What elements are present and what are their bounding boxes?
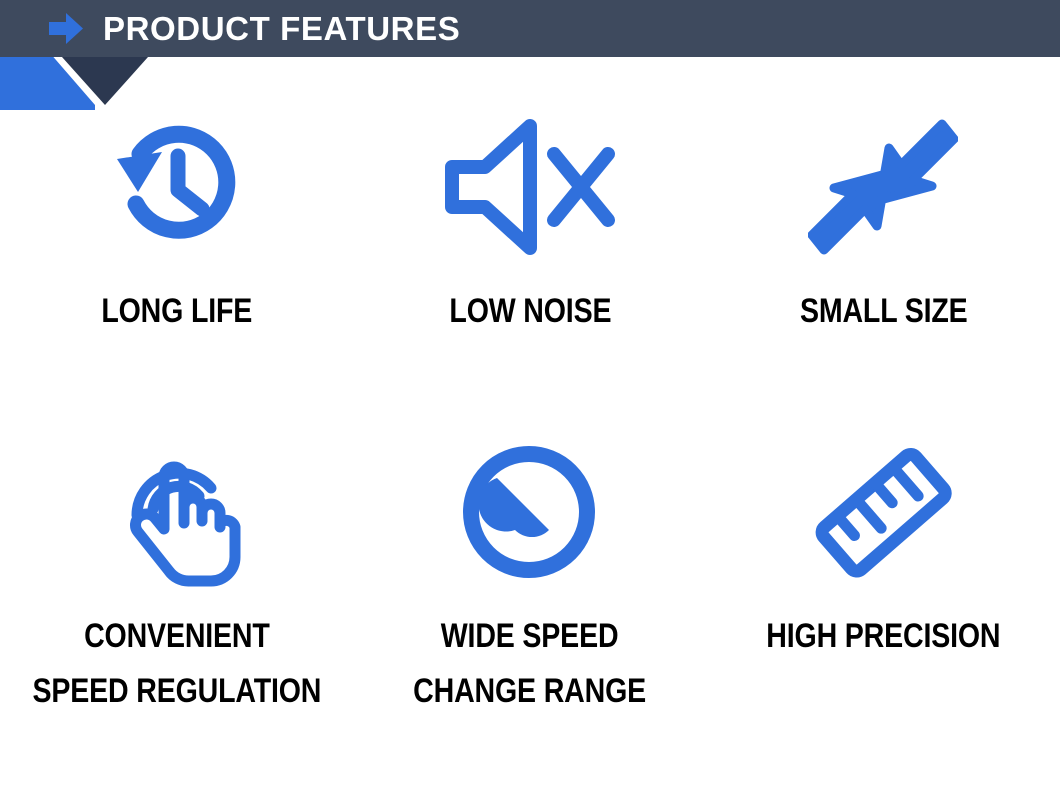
speaker-mute-icon bbox=[442, 112, 617, 262]
feature-row-bottom: CONVENIENT SPEED REGULATION WIDE SPEED C… bbox=[0, 437, 1060, 719]
feature-label: SMALL SIZE bbox=[800, 284, 968, 339]
feature-label: WIDE SPEED CHANGE RANGE bbox=[414, 609, 647, 719]
header-bar: PRODUCT FEATURES bbox=[0, 0, 1060, 57]
feature-item-convenient-speed-regulation[interactable]: CONVENIENT SPEED REGULATION bbox=[0, 437, 353, 719]
speedometer-icon bbox=[457, 437, 602, 587]
tap-hand-icon bbox=[107, 437, 247, 587]
page-title: PRODUCT FEATURES bbox=[103, 0, 460, 57]
header-inner: PRODUCT FEATURES bbox=[0, 0, 1060, 57]
feature-item-low-noise[interactable]: LOW NOISE bbox=[353, 112, 706, 339]
clock-rewind-icon bbox=[102, 112, 252, 262]
arrow-right-icon bbox=[49, 13, 83, 44]
feature-item-small-size[interactable]: SMALL SIZE bbox=[707, 112, 1060, 339]
feature-item-high-precision[interactable]: HIGH PRECISION bbox=[707, 437, 1060, 719]
feature-label: CONVENIENT SPEED REGULATION bbox=[32, 609, 321, 719]
features-grid: LONG LIFE LOW NOISE bbox=[0, 57, 1060, 806]
feature-item-wide-speed-change-range[interactable]: WIDE SPEED CHANGE RANGE bbox=[353, 437, 706, 719]
ruler-icon bbox=[808, 437, 958, 587]
compress-arrows-icon bbox=[808, 112, 958, 262]
feature-label: LOW NOISE bbox=[449, 284, 611, 339]
feature-label: LONG LIFE bbox=[101, 284, 252, 339]
feature-label: HIGH PRECISION bbox=[766, 609, 1000, 664]
feature-row-top: LONG LIFE LOW NOISE bbox=[0, 112, 1060, 339]
feature-item-long-life[interactable]: LONG LIFE bbox=[0, 112, 353, 339]
